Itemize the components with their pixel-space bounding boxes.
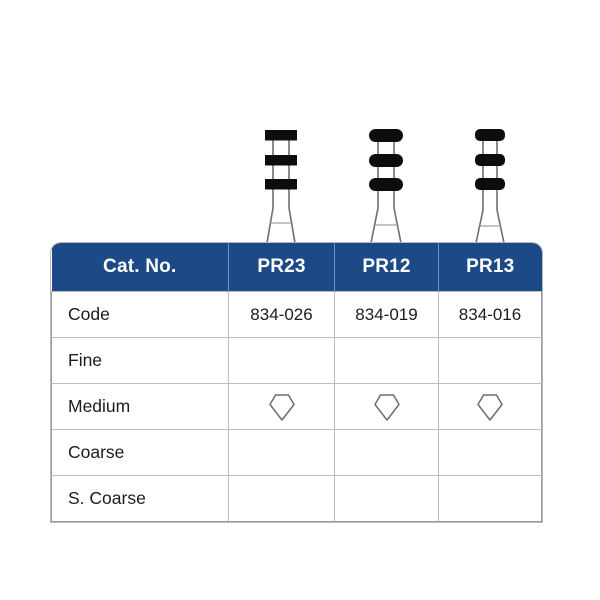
row-label-medium: Medium — [52, 384, 229, 430]
table-header: Cat. No. PR23 PR12 PR13 — [52, 243, 542, 292]
bur-PR13 — [460, 118, 520, 243]
cell-medium-pr13 — [439, 384, 542, 430]
row-label-code: Code — [52, 292, 229, 338]
bur-illustration-pr12 — [334, 118, 438, 243]
header-col-pr12: PR12 — [335, 243, 439, 292]
row-label-fine: Fine — [52, 338, 229, 384]
cell-s-coarse-pr12 — [335, 476, 439, 522]
table-row-s-coarse: S. Coarse — [52, 476, 542, 522]
cell-fine-pr12 — [335, 338, 439, 384]
bur-illustration-row — [228, 118, 541, 243]
cell-coarse-pr13 — [439, 430, 542, 476]
header-col-pr13: PR13 — [439, 243, 542, 292]
cell-code-pr23: 834-026 — [229, 292, 335, 338]
cell-s-coarse-pr23 — [229, 476, 335, 522]
gem-icon — [476, 391, 504, 423]
header-cat-no: Cat. No. — [52, 243, 229, 292]
table-row-code: Code 834-026 834-019 834-016 — [52, 292, 542, 338]
row-label-coarse: Coarse — [52, 430, 229, 476]
table-row-fine: Fine — [52, 338, 542, 384]
cell-coarse-pr12 — [335, 430, 439, 476]
table-row-medium: Medium — [52, 384, 542, 430]
bur-PR23 — [251, 118, 311, 243]
spec-table: Cat. No. PR23 PR12 PR13 Code 834-026 834… — [51, 243, 542, 522]
cell-medium-pr12 — [335, 384, 439, 430]
bur-PR12 — [356, 118, 416, 243]
bur-illustration-pr13 — [438, 118, 541, 243]
row-label-s-coarse: S. Coarse — [52, 476, 229, 522]
table-row-coarse: Coarse — [52, 430, 542, 476]
cell-fine-pr13 — [439, 338, 542, 384]
bur-illustration-pr23 — [228, 118, 334, 243]
header-row: Cat. No. PR23 PR12 PR13 — [52, 243, 542, 292]
cell-code-pr13: 834-016 — [439, 292, 542, 338]
table-body: Code 834-026 834-019 834-016 Fine Medium — [52, 292, 542, 522]
cell-medium-pr23 — [229, 384, 335, 430]
product-spec-sheet: Cat. No. PR23 PR12 PR13 Code 834-026 834… — [0, 0, 600, 600]
cell-fine-pr23 — [229, 338, 335, 384]
gem-icon — [373, 391, 401, 423]
cell-coarse-pr23 — [229, 430, 335, 476]
cell-code-pr12: 834-019 — [335, 292, 439, 338]
cell-s-coarse-pr13 — [439, 476, 542, 522]
gem-icon — [268, 391, 296, 423]
spec-table-container: Cat. No. PR23 PR12 PR13 Code 834-026 834… — [51, 243, 541, 519]
header-col-pr23: PR23 — [229, 243, 335, 292]
